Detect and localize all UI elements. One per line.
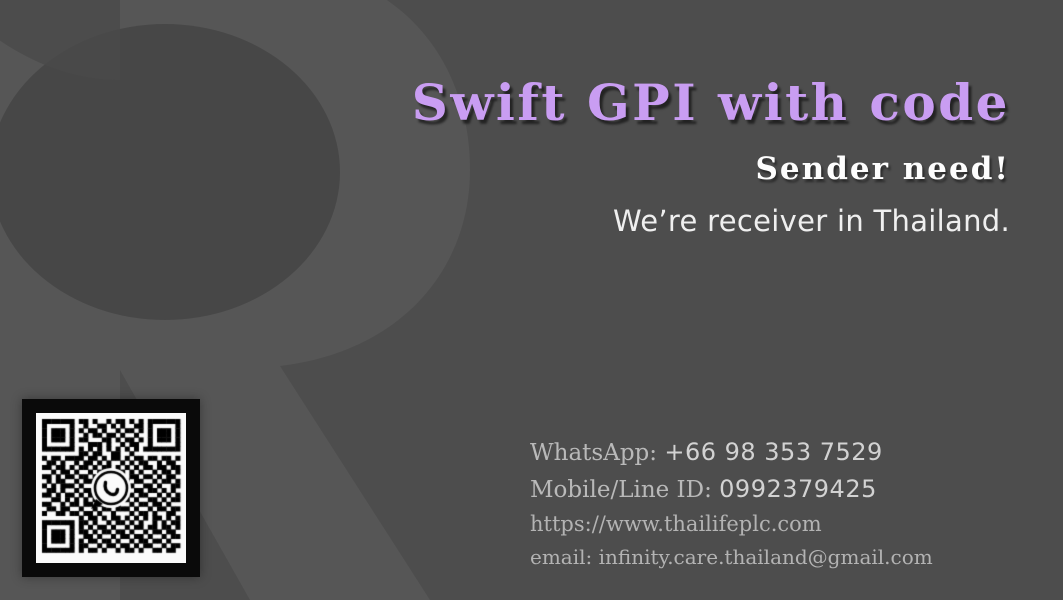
contact-whatsapp-value[interactable]: +66 98 353 7529 xyxy=(664,438,882,466)
contact-whatsapp-label: WhatsApp: xyxy=(530,440,657,466)
qr-code-modules xyxy=(36,413,186,563)
headline-subtitle: Sender need! xyxy=(0,154,1010,185)
contact-email-label: email: xyxy=(530,545,592,569)
contact-mobile-label: Mobile/Line ID: xyxy=(530,477,712,503)
contact-mobile-value[interactable]: 0992379425 xyxy=(719,475,877,503)
contact-block: WhatsApp: +66 98 353 7529 Mobile/Line ID… xyxy=(530,440,1000,567)
contact-email: email: infinity.care.thailand@gmail.com xyxy=(530,547,1000,567)
qr-code-surface xyxy=(36,413,186,563)
contact-mobile: Mobile/Line ID: 0992379425 xyxy=(530,477,1000,502)
headline-block: Swift GPI with code Sender need! We’re r… xyxy=(0,78,1010,236)
contact-website[interactable]: https://www.thailifeplc.com xyxy=(530,514,1000,535)
page-title: Swift GPI with code xyxy=(0,78,1010,128)
headline-tagline: We’re receiver in Thailand. xyxy=(0,207,1010,236)
contact-whatsapp: WhatsApp: +66 98 353 7529 xyxy=(530,440,1000,465)
whatsapp-qr-code[interactable] xyxy=(22,399,200,577)
contact-email-value[interactable]: infinity.care.thailand@gmail.com xyxy=(599,545,933,569)
business-card: Swift GPI with code Sender need! We’re r… xyxy=(0,0,1063,600)
